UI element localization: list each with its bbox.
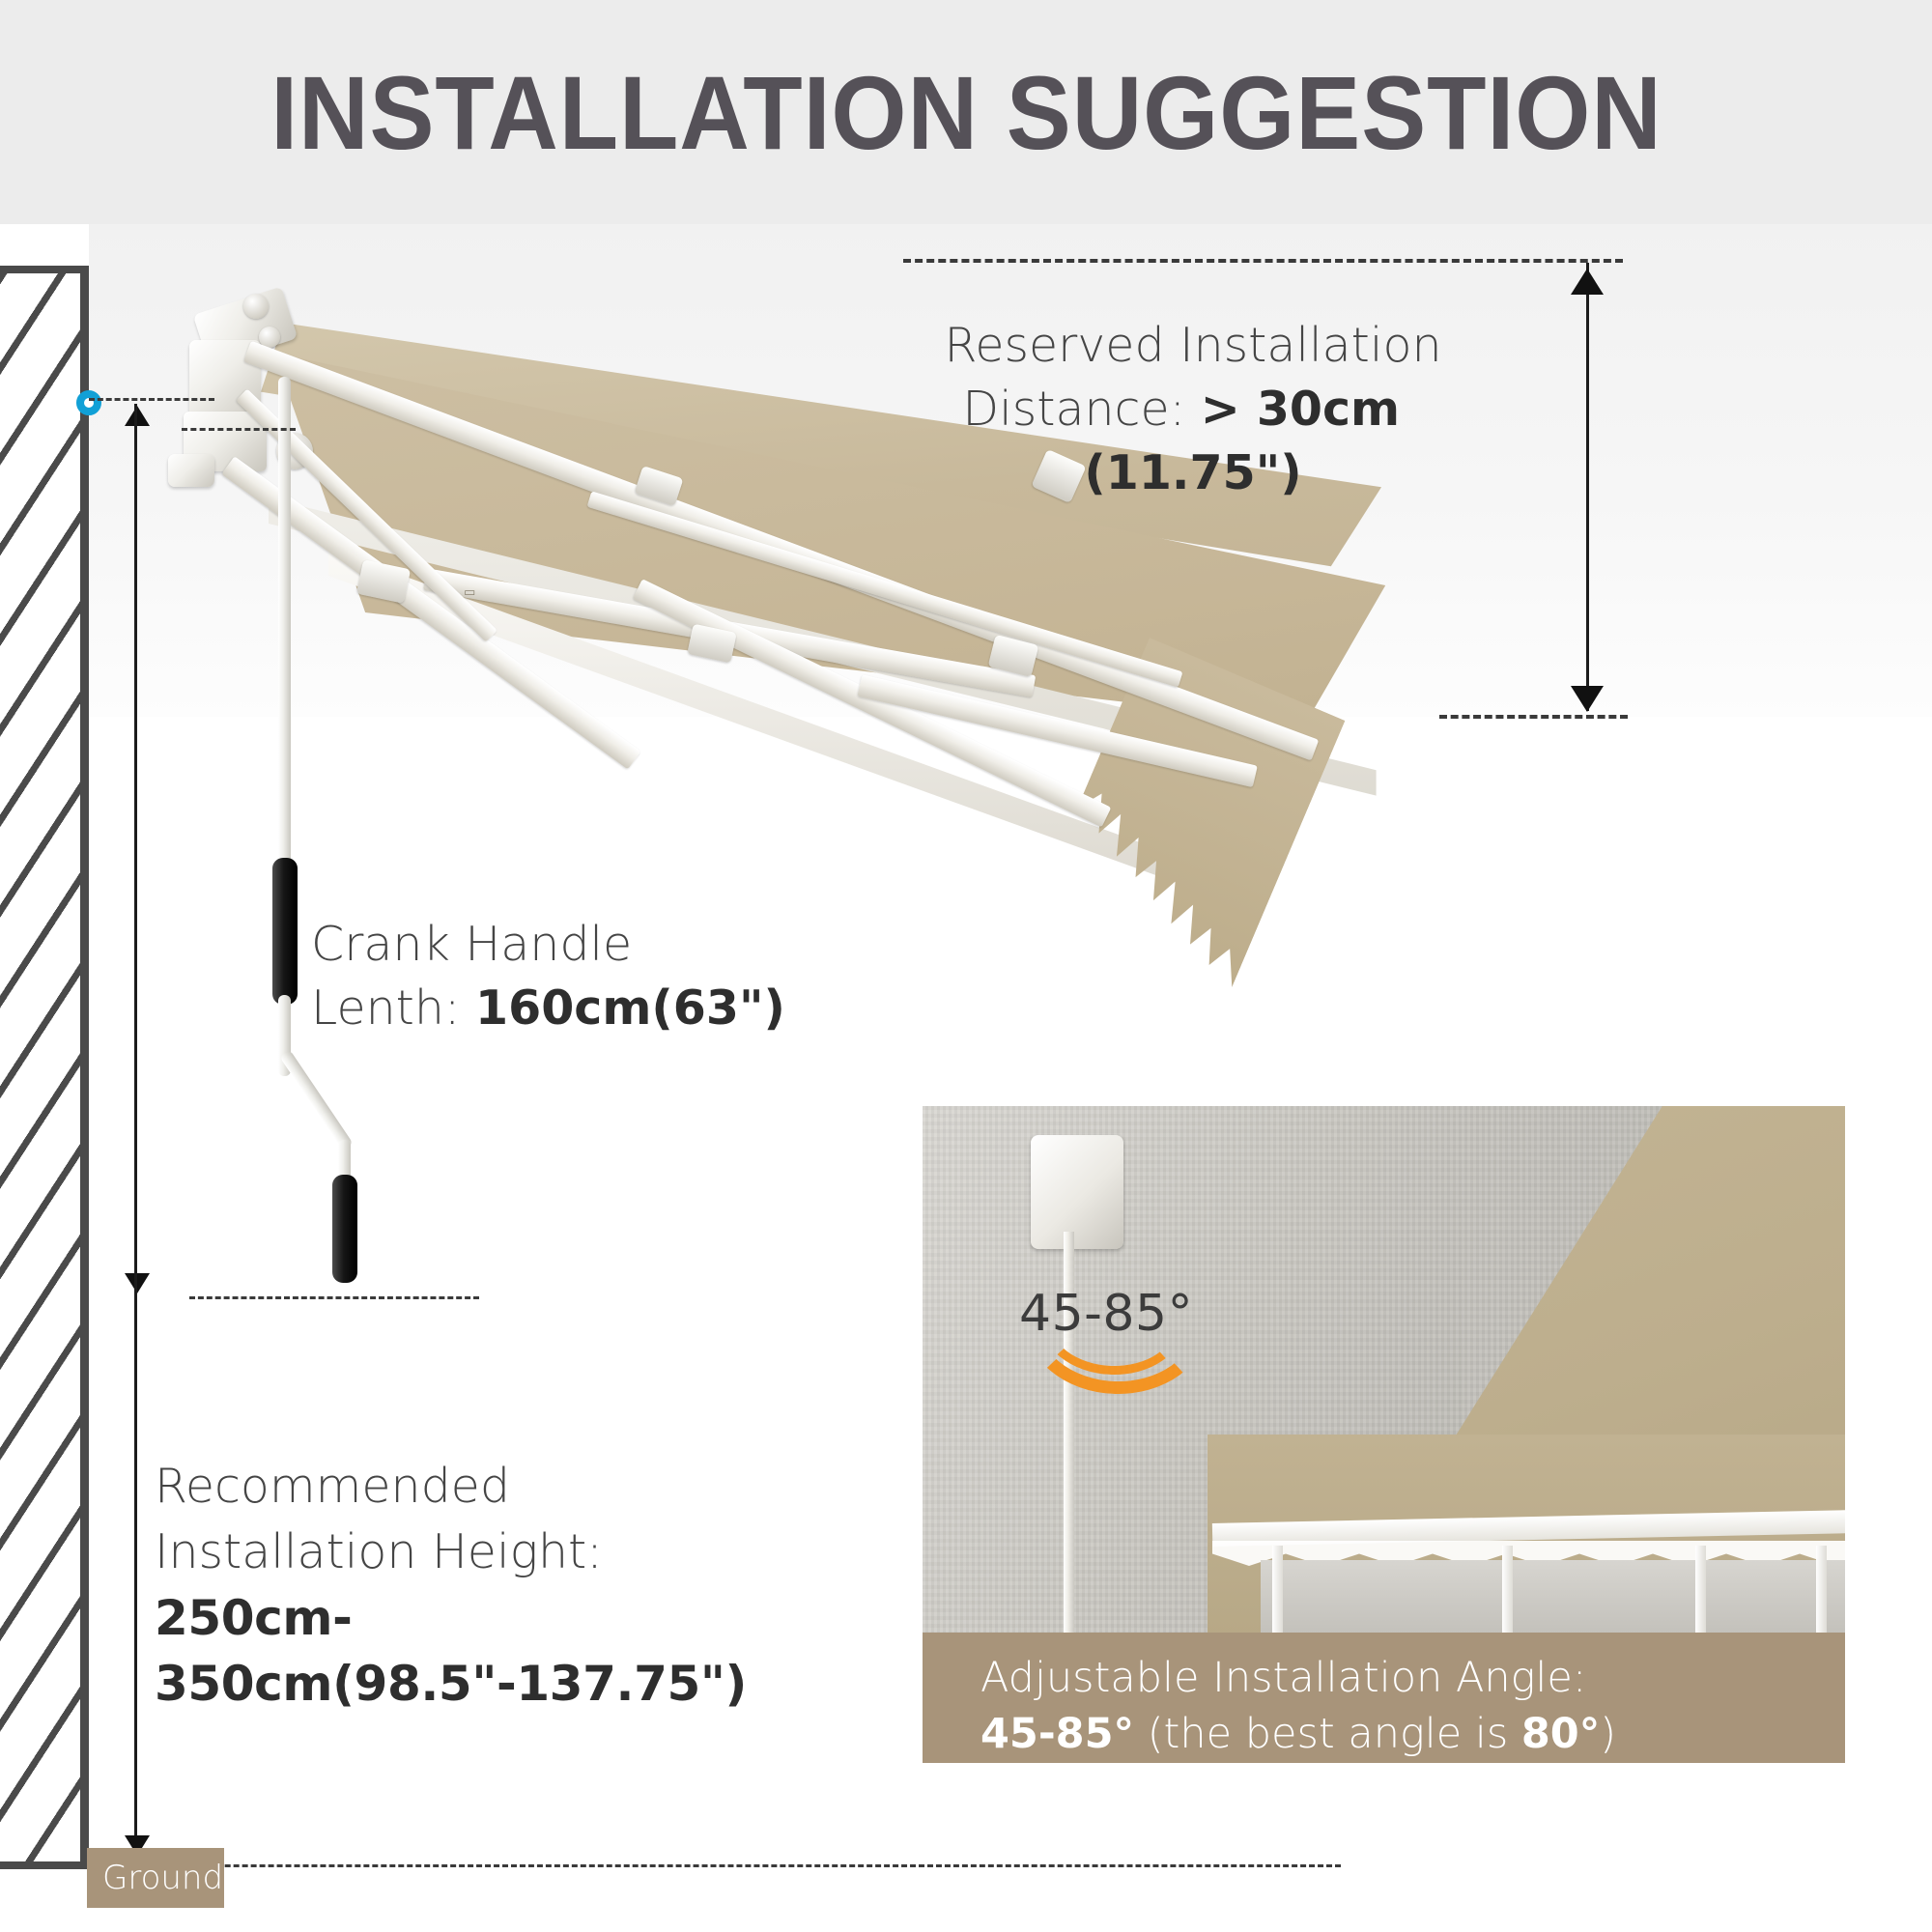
inset-window-mullion-4	[1816, 1546, 1827, 1637]
wall-base-line	[0, 1861, 95, 1869]
wall-bracket-clamp	[168, 454, 214, 487]
caption-line2: 45-85° (the best angle is 80°)	[980, 1706, 1816, 1762]
inset-wall-bracket	[1031, 1135, 1123, 1249]
crank-handle-illustration	[241, 377, 396, 1246]
page-title: INSTALLATION SUGGESTION	[270, 52, 1662, 173]
page-header: INSTALLATION SUGGESTION	[0, 0, 1932, 224]
height-line1: Recommended	[155, 1454, 927, 1520]
crank-arrow-down-icon	[125, 1273, 150, 1293]
reserved-arrow-down-icon	[1571, 686, 1604, 712]
reserved-line2: Distance: > 30cm (11.75")	[874, 378, 1512, 505]
installation-height-annotation: Recommended Installation Height: 250cm-3…	[155, 1454, 927, 1717]
reserved-bottom-guide	[1439, 715, 1628, 719]
product-logo-tag: ▭	[464, 585, 475, 600]
crank-grip-upper	[272, 858, 298, 1005]
crank-handle-annotation: Crank Handle Lenth: 160cm(63")	[311, 913, 910, 1040]
height-line3-value: 250cm-350cm(98.5"-137.75")	[155, 1585, 927, 1717]
inset-window-mullion-1	[1272, 1546, 1283, 1637]
crank-rod-upper	[278, 377, 291, 869]
crank-line2: Lenth: 160cm(63")	[311, 977, 910, 1040]
ground-label-badge: Ground	[87, 1848, 224, 1908]
caption-angle-value: 45-85°	[980, 1710, 1134, 1758]
inset-window-mullion-2	[1502, 1546, 1513, 1637]
bracket-bolt-icon	[243, 294, 269, 319]
install-height-dimension-line	[134, 406, 137, 1864]
reserved-top-guide	[903, 259, 1623, 263]
crank-arrow-up-icon	[125, 406, 150, 426]
crank-line2-prefix: Lenth:	[311, 980, 475, 1036]
crank-line1: Crank Handle	[311, 913, 910, 977]
ground-guide-line	[95, 1864, 1341, 1867]
ground-label-text: Ground	[102, 1859, 223, 1897]
crank-rod-offset	[279, 1049, 354, 1151]
reserved-line2-prefix: Distance:	[962, 382, 1200, 437]
caption-line1: Adjustable Installation Angle:	[980, 1650, 1816, 1706]
wall-cross-section	[0, 266, 89, 1869]
inset-caption-bar: Adjustable Installation Angle: 45-85° (t…	[923, 1633, 1845, 1763]
inset-window-mullion-3	[1695, 1546, 1706, 1637]
mount-point-marker-icon	[76, 390, 101, 415]
caption-end-text: )	[1600, 1710, 1616, 1758]
height-line2: Installation Height:	[155, 1520, 927, 1585]
installation-suggestion-page: INSTALLATION SUGGESTION	[0, 0, 1932, 1932]
reserved-distance-annotation: Reserved Installation Distance: > 30cm (…	[874, 314, 1512, 505]
caption-best-angle: 80°	[1521, 1710, 1600, 1758]
wall-hatch-pattern	[0, 266, 89, 1869]
crank-bottom-guide	[189, 1296, 479, 1299]
inset-angle-label: 45-85°	[1019, 1285, 1193, 1343]
reserved-dimension-line	[1586, 263, 1589, 711]
mount-upper-guide	[89, 398, 214, 401]
inset-window-glass	[1261, 1560, 1845, 1637]
caption-mid-text: (the best angle is	[1134, 1710, 1521, 1758]
crank-grip-lower	[332, 1175, 357, 1283]
mount-lower-guide	[182, 428, 296, 431]
reserved-arrow-up-icon	[1571, 269, 1604, 295]
crank-line2-value: 160cm(63")	[475, 980, 785, 1036]
reserved-line1: Reserved Installation	[874, 314, 1512, 378]
